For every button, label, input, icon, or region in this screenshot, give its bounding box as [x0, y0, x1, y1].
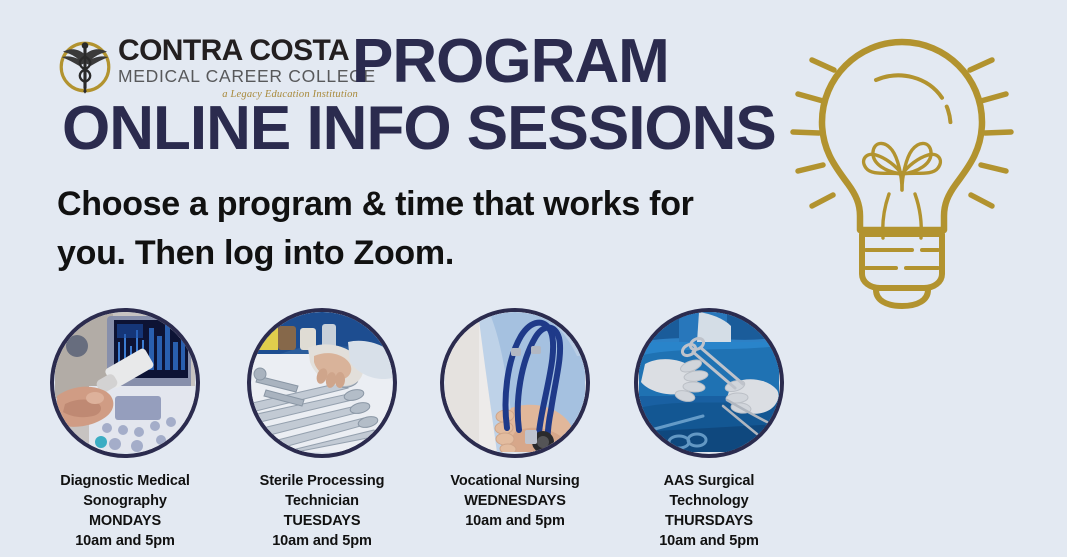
subheading-line-1: Choose a program & time that works for	[57, 180, 857, 229]
program-name-line-2: Sonography	[19, 491, 231, 511]
program-name-line-1: Vocational Nursing	[409, 471, 621, 491]
program-times: 10am and 5pm	[19, 531, 231, 551]
program-caption: Diagnostic Medical Sonography MONDAYS 10…	[19, 471, 231, 551]
college-logo: CONTRA COSTA MEDICAL CAREER COLLEGE a Le…	[56, 36, 356, 102]
page-title-line-2: ONLINE INFO SESSIONS	[62, 98, 776, 160]
program-day: WEDNESDAYS	[409, 491, 621, 511]
surgery-operating-room-photo	[634, 308, 784, 458]
subheading-line-2: you. Then log into Zoom.	[57, 229, 857, 278]
program-card-diagnostic-medical-sonography[interactable]: Diagnostic Medical Sonography MONDAYS 10…	[19, 300, 231, 551]
subheading: Choose a program & time that works for y…	[57, 180, 857, 279]
caduceus-icon	[56, 38, 114, 96]
program-day: MONDAYS	[19, 511, 231, 531]
program-name-line-1: Diagnostic Medical	[19, 471, 231, 491]
program-caption: Sterile Processing Technician TUESDAYS 1…	[216, 471, 428, 551]
program-name-line-1: Sterile Processing	[216, 471, 428, 491]
page-title-line-1: PROGRAM	[352, 31, 669, 93]
program-times: 10am and 5pm	[409, 511, 621, 531]
logo-wordmark: CONTRA COSTA MEDICAL CAREER COLLEGE a Le…	[118, 36, 358, 100]
ultrasound-sonography-photo	[50, 308, 200, 458]
program-name-line-1: AAS Surgical	[603, 471, 815, 491]
surgical-instruments-photo	[247, 308, 397, 458]
program-card-aas-surgical-technology[interactable]: AAS Surgical Technology THURSDAYS 10am a…	[603, 300, 815, 551]
program-times: 10am and 5pm	[216, 531, 428, 551]
program-caption: AAS Surgical Technology THURSDAYS 10am a…	[603, 471, 815, 551]
program-day: THURSDAYS	[603, 511, 815, 531]
logo-name-secondary: MEDICAL CAREER COLLEGE	[118, 66, 358, 88]
program-day: TUESDAYS	[216, 511, 428, 531]
program-times: 10am and 5pm	[603, 531, 815, 551]
info-session-poster: CONTRA COSTA MEDICAL CAREER COLLEGE a Le…	[0, 0, 1067, 557]
program-name-line-2: Technician	[216, 491, 428, 511]
logo-name-primary: CONTRA COSTA	[118, 36, 358, 66]
program-card-sterile-processing-technician[interactable]: Sterile Processing Technician TUESDAYS 1…	[216, 300, 428, 551]
nurse-stethoscope-photo	[440, 308, 590, 458]
program-list: Diagnostic Medical Sonography MONDAYS 10…	[0, 300, 1067, 550]
program-caption: Vocational Nursing WEDNESDAYS 10am and 5…	[409, 471, 621, 531]
program-card-vocational-nursing[interactable]: Vocational Nursing WEDNESDAYS 10am and 5…	[409, 300, 621, 531]
program-name-line-2: Technology	[603, 491, 815, 511]
